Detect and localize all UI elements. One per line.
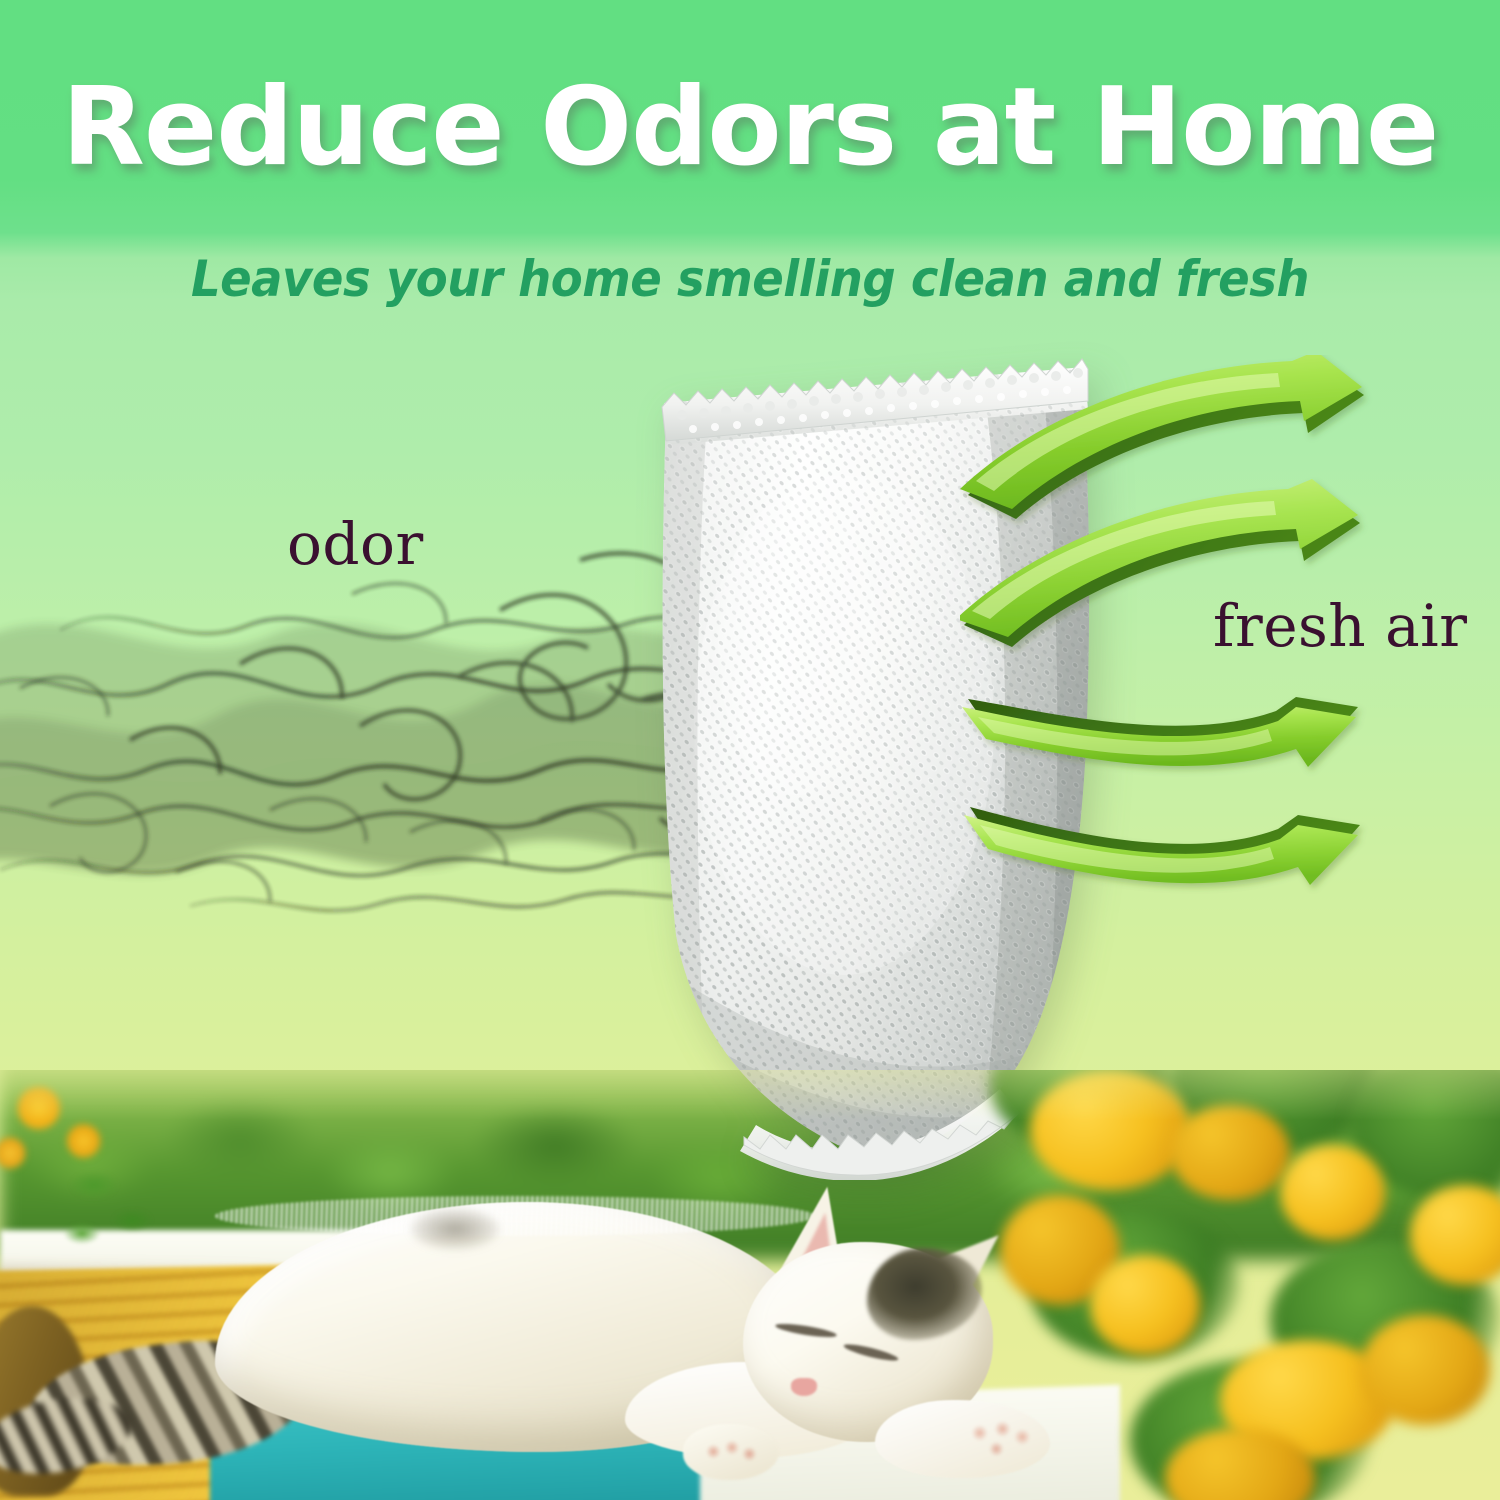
sleeping-cat [195, 1150, 1075, 1500]
leaf-cluster-left [58, 1152, 178, 1262]
cat-body-fur [215, 1196, 815, 1236]
arrow-4 [964, 807, 1360, 885]
arrow-3 [962, 697, 1358, 767]
page-subtitle: Leaves your home smelling clean and fres… [53, 250, 1448, 308]
fresh-air-label: fresh air [1213, 592, 1467, 660]
cat-toes-front [963, 1418, 1039, 1468]
cat-back-patch [410, 1208, 500, 1250]
product-marketing-image: Reduce Odors at Home Leaves your home sm… [0, 0, 1500, 1500]
cat-toes-lower [701, 1438, 763, 1478]
odor-label: odor [287, 510, 424, 578]
cat-nose [791, 1378, 817, 1396]
page-title: Reduce Odors at Home [0, 74, 1500, 182]
